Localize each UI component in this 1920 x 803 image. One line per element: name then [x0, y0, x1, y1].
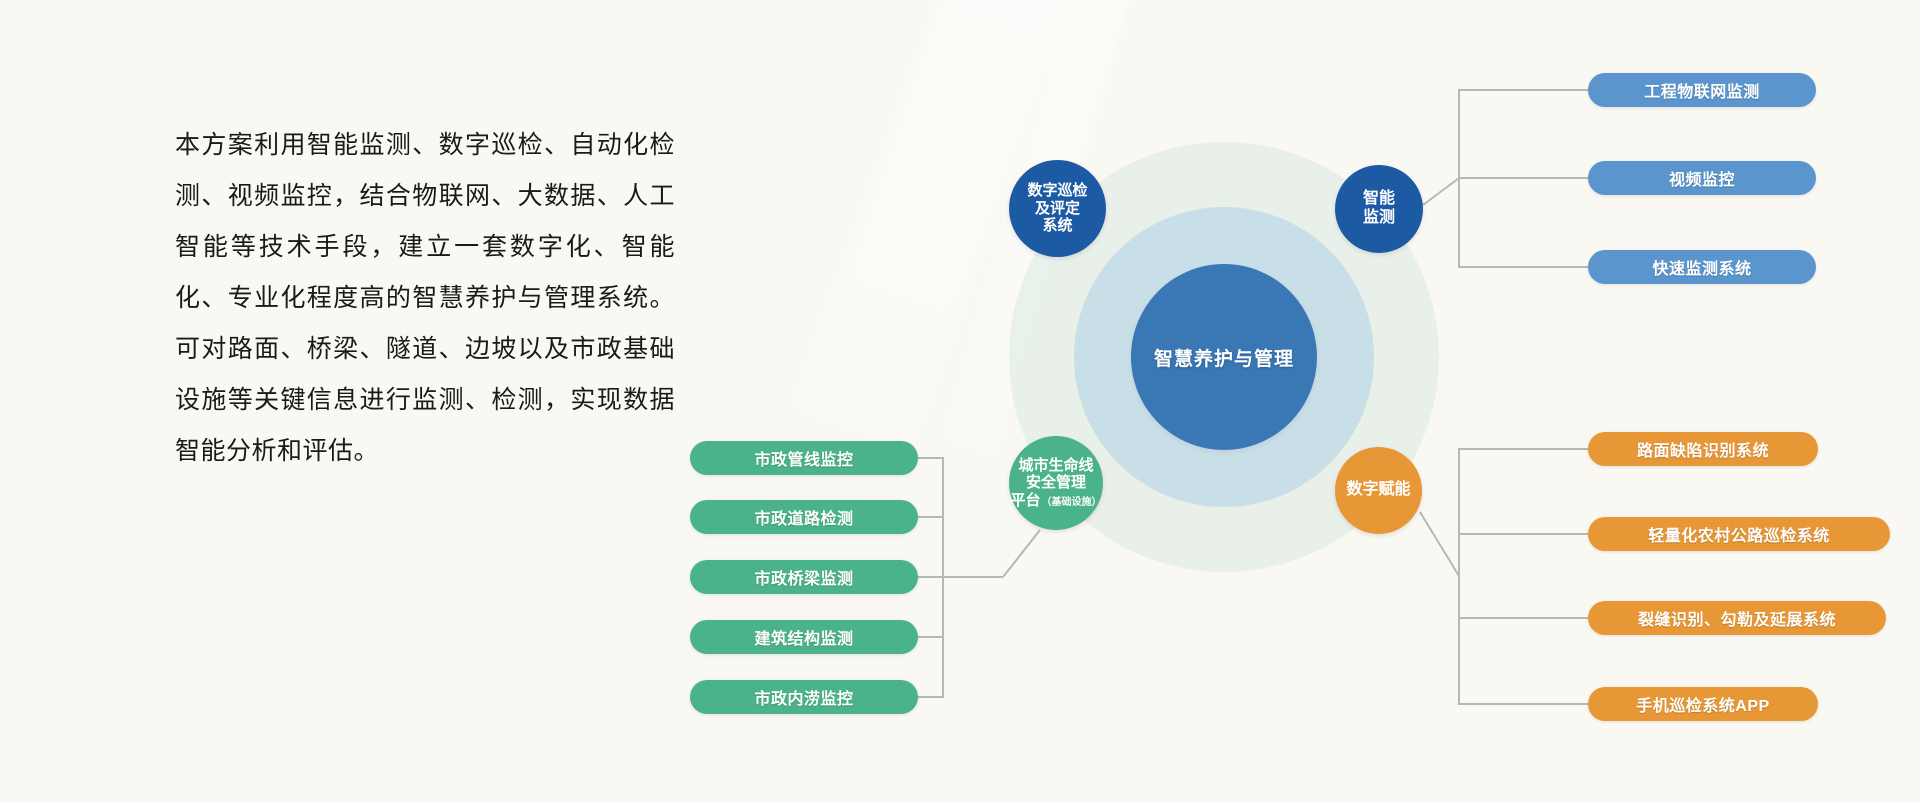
leaf-smart-monitoring-2[interactable]: 快速监测系统 — [1588, 250, 1816, 284]
hub-city-lifeline-line3-wrap: 平台 （基础设施） — [1010, 492, 1101, 509]
hub-digital-inspection-line1: 数字巡检 — [1027, 182, 1087, 199]
hub-digital-empowerment-line1: 数字赋能 — [1346, 481, 1410, 500]
hub-city-lifeline-line3: 平台 — [1010, 492, 1040, 509]
connector-orange-bracket — [1459, 449, 1588, 704]
hub-city-lifeline[interactable]: 城市生命线 安全管理 平台 （基础设施） — [1009, 436, 1103, 530]
diagram-canvas: 智慧养护与管理 数字巡检 及评定 系统 智能 监测 城市生命线 安全管理 平台 … — [0, 0, 1920, 803]
leaf-digital-empowerment-2[interactable]: 裂缝识别、勾勒及延展系统 — [1588, 601, 1886, 635]
hub-smart-monitoring-line1: 智能 — [1363, 190, 1395, 209]
connector-blue-to-hub — [1423, 178, 1459, 205]
leaf-smart-monitoring-1[interactable]: 视频监控 — [1588, 161, 1816, 195]
hub-digital-inspection-line2: 及评定 — [1035, 200, 1080, 217]
leaf-city-lifeline-0[interactable]: 市政管线监控 — [690, 441, 918, 475]
center-node-label: 智慧养护与管理 — [1131, 264, 1317, 450]
center-node[interactable]: 智慧养护与管理 — [1131, 264, 1317, 450]
leaf-city-lifeline-1[interactable]: 市政道路检测 — [690, 500, 918, 534]
connector-green-to-hub — [1003, 530, 1040, 577]
leaf-digital-empowerment-3[interactable]: 手机巡检系统APP — [1588, 687, 1818, 721]
leaf-digital-empowerment-1[interactable]: 轻量化农村公路巡检系统 — [1588, 517, 1890, 551]
leaf-city-lifeline-2[interactable]: 市政桥梁监测 — [690, 560, 918, 594]
leaf-city-lifeline-4[interactable]: 市政内涝监控 — [690, 680, 918, 714]
hub-city-lifeline-sublabel: （基础设施） — [1042, 498, 1102, 508]
leaf-smart-monitoring-0[interactable]: 工程物联网监测 — [1588, 73, 1816, 107]
hub-city-lifeline-line1: 城市生命线 — [1018, 457, 1093, 474]
hub-digital-empowerment[interactable]: 数字赋能 — [1335, 447, 1422, 534]
leaf-digital-empowerment-0[interactable]: 路面缺陷识别系统 — [1588, 432, 1818, 466]
hub-smart-monitoring[interactable]: 智能 监测 — [1335, 165, 1423, 253]
hub-digital-inspection-line3: 系统 — [1042, 217, 1072, 234]
leaf-city-lifeline-3[interactable]: 建筑结构监测 — [690, 620, 918, 654]
hub-city-lifeline-line2: 安全管理 — [1026, 474, 1086, 491]
description-paragraph: 本方案利用智能监测、数字巡检、自动化检测、视频监控，结合物联网、大数据、人工智能… — [175, 120, 675, 477]
connector-orange-to-hub — [1420, 512, 1459, 576]
hub-digital-inspection[interactable]: 数字巡检 及评定 系统 — [1009, 160, 1106, 257]
hub-smart-monitoring-line2: 监测 — [1363, 209, 1395, 228]
